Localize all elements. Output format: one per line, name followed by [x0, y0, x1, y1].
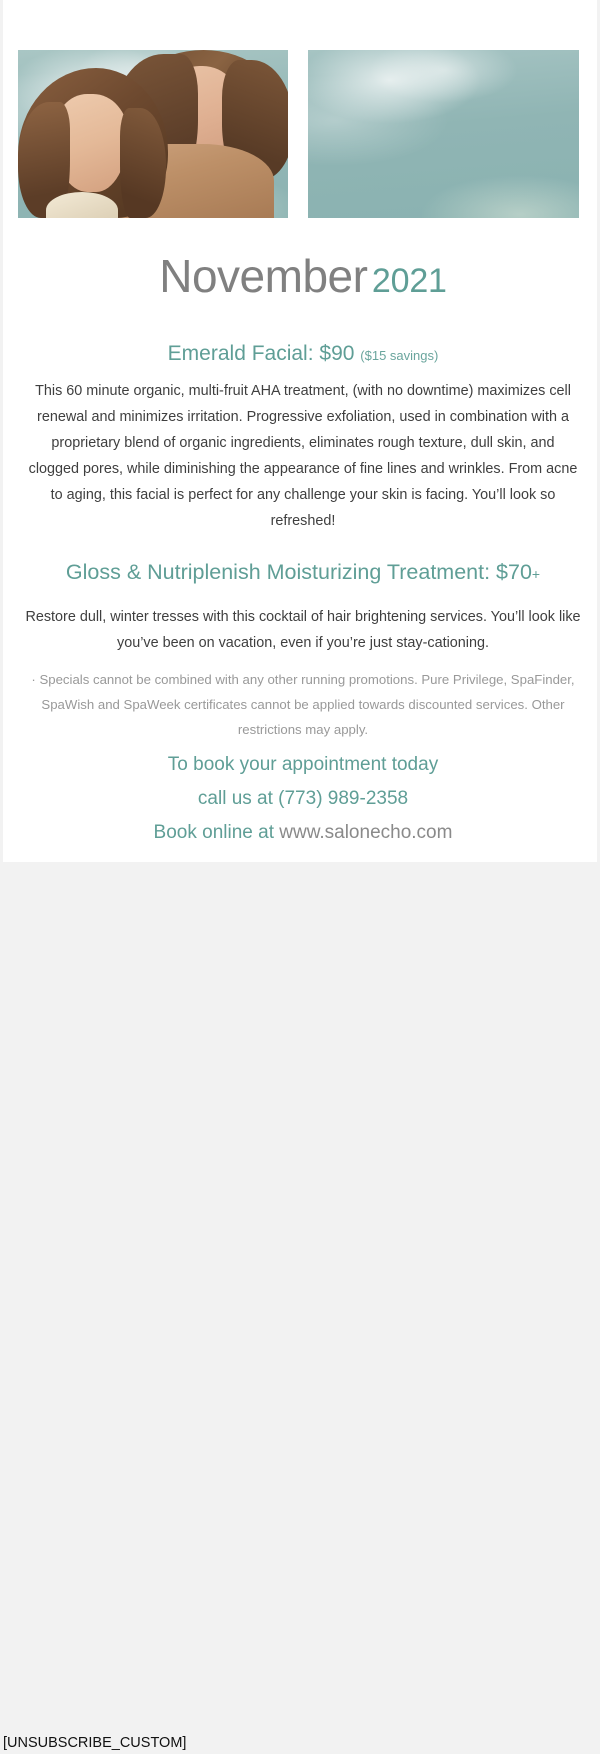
hero-image-row	[18, 50, 581, 218]
service-1-title: Emerald Facial: $90	[168, 342, 355, 365]
model-front-figure	[18, 68, 168, 218]
service-2-title: Gloss & Nutriplenish Moisturizing Treatm…	[66, 560, 532, 584]
hero-image-models	[18, 50, 288, 218]
service-2-price-plus: +	[532, 566, 540, 582]
issue-year: 2021	[372, 262, 447, 300]
cta-line-online: Book online at www.salonecho.com	[3, 816, 600, 850]
service-1-description: This 60 minute organic, multi-fruit AHA …	[25, 378, 581, 534]
cta-online-prefix: Book online at	[154, 822, 280, 843]
sky-background-secondary	[308, 50, 579, 218]
service-1-savings-note: ($15 savings)	[360, 348, 438, 363]
unsubscribe-link[interactable]: [UNSUBSCRIBE_CUSTOM]	[3, 1732, 186, 1754]
hero-image-sky	[308, 50, 579, 218]
cta-line-book: To book your appointment today	[3, 748, 600, 782]
email-content-column: November 2021 Emerald Facial: $90 ($15 s…	[3, 0, 597, 862]
issue-date-heading: November 2021	[3, 253, 600, 299]
service-1-heading: Emerald Facial: $90 ($15 savings)	[3, 343, 600, 364]
salon-website-link[interactable]: www.salonecho.com	[279, 822, 452, 843]
email-footer: [UNSUBSCRIBE_CUSTOM]	[0, 862, 600, 942]
cta-line-phone[interactable]: call us at (773) 989-2358	[3, 782, 600, 816]
service-2-description: Restore dull, winter tresses with this c…	[21, 604, 585, 656]
disclaimer-text: · Specials cannot be combined with any o…	[25, 667, 581, 742]
email-newsletter: November 2021 Emerald Facial: $90 ($15 s…	[0, 0, 600, 942]
issue-month: November	[159, 250, 367, 302]
service-2-heading: Gloss & Nutriplenish Moisturizing Treatm…	[3, 562, 600, 584]
booking-call-to-action: To book your appointment today call us a…	[3, 748, 600, 850]
